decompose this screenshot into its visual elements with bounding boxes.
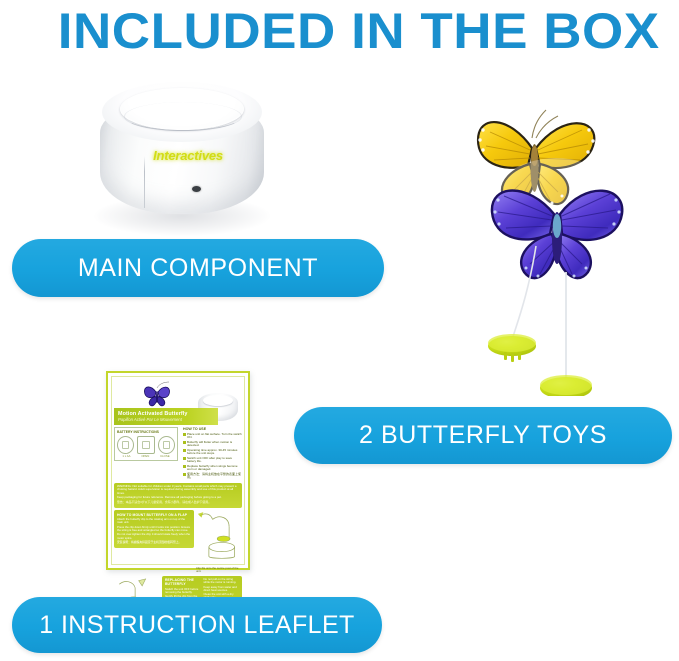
label-instruction-leaflet[interactable]: 1 INSTRUCTION LEAFLET xyxy=(12,597,382,653)
howto-item: Replace butterfly when wings become worn… xyxy=(183,465,242,472)
mount-line-cn: 安装说明：将蝴蝶夹扣固定于主机顶部的旋转臂上。 xyxy=(117,541,191,544)
device-lid-seam xyxy=(124,102,242,131)
butterfly-toys-image xyxy=(470,96,630,396)
instruction-leaflet-image: Motion Activated Butterfly Papillon Acti… xyxy=(106,371,250,570)
label-main-component[interactable]: MAIN COMPONENT xyxy=(12,239,384,297)
battery-diagrams xyxy=(117,435,175,454)
leaflet-title-bar: Motion Activated Butterfly Papillon Acti… xyxy=(114,408,218,425)
battery-captions: 1 x AA OPEN CLOSE xyxy=(117,454,175,458)
leaflet-howto-list: HOW TO USE Place unit on flat surface. T… xyxy=(181,427,242,481)
leaflet-mount-artwork: Clip fits onto the centre post of the un… xyxy=(196,510,242,573)
mount-line: Do not over-tighten the clip; it should … xyxy=(117,533,191,539)
howto-text: Operating time approx. 30-45 minutes bef… xyxy=(187,449,242,456)
howto-text: Replace butterfly when wings become worn… xyxy=(187,465,242,472)
howto-item: Place unit on flat surface. Turn the swi… xyxy=(183,433,242,440)
purple-butterfly xyxy=(484,158,628,278)
page-title: INCLUDED IN THE BOX xyxy=(28,0,679,62)
howto-item: Butterfly will flutter when motion is de… xyxy=(183,441,242,448)
howto-item: Operating time approx. 30-45 minutes bef… xyxy=(183,449,242,456)
battery-diagram-1 xyxy=(117,436,134,454)
warning-line-cn: 警告：本品不适合3岁以下儿童使用，含有小部件，请在成人监护下使用。 xyxy=(117,501,239,504)
battery-diagram-2 xyxy=(137,436,154,454)
label-butterfly-toys[interactable]: 2 BUTTERFLY TOYS xyxy=(294,407,672,464)
battery-diagram-3 xyxy=(158,436,175,454)
leaflet-row-mount: HOW TO MOUNT BUTTERFLY ON A FLAP Attach … xyxy=(112,510,244,573)
leaflet-battery-box: BATTERY INSTRUCTIONS 1 x AA OPEN CLOSE xyxy=(114,427,178,461)
battery-caption-2: OPEN xyxy=(141,454,149,458)
replace-note: Keep away from water and direct heat sou… xyxy=(204,586,240,592)
butterfly-toys-svg xyxy=(470,96,630,396)
leaflet-warning-block: WARNING: Not suitable for children under… xyxy=(114,483,242,509)
mount-heading: HOW TO MOUNT BUTTERFLY ON A FLAP xyxy=(117,513,191,517)
mount-side-note: Clip fits onto the centre post of the un… xyxy=(196,567,242,573)
howto-text: Butterfly will flutter when motion is de… xyxy=(187,441,242,448)
battery-caption-3: CLOSE xyxy=(160,454,169,458)
leaflet-mount-block: HOW TO MOUNT BUTTERFLY ON A FLAP Attach … xyxy=(114,510,194,548)
howto-heading: HOW TO USE xyxy=(183,427,242,431)
battery-heading: BATTERY INSTRUCTIONS xyxy=(117,430,175,434)
mount-line: Press the clip down firmly until it lock… xyxy=(117,526,191,532)
replace-note: Do not pull on the string while the moto… xyxy=(204,578,240,584)
butterfly-clip-2 xyxy=(540,375,592,396)
motion-sensor-icon xyxy=(192,186,201,192)
replace-line: Switch the unit OFF before removing the … xyxy=(165,588,201,594)
butterfly-clip-1 xyxy=(488,334,536,362)
replace-heading: REPLACING THE BUTTERFLY xyxy=(165,578,201,586)
howto-text: Place unit on flat surface. Turn the swi… xyxy=(187,433,242,440)
mount-line: Attach the butterfly clip to the rotatin… xyxy=(117,518,191,524)
howto-item: Switch unit OFF after play to save batte… xyxy=(183,457,242,464)
infographic-canvas: INCLUDED IN THE BOX Interactives MAIN CO… xyxy=(0,0,679,661)
howto-text: Switch unit OFF after play to save batte… xyxy=(187,457,242,464)
main-component-image: Interactives xyxy=(88,78,276,236)
leaflet-hero: Motion Activated Butterfly Papillon Acti… xyxy=(112,377,244,427)
leaflet-butterfly-icon xyxy=(142,381,172,407)
warning-line: WARNING: Not suitable for children under… xyxy=(117,485,239,495)
howto-item: 使用方法：请将主机放在平整的表面上使用。 xyxy=(183,473,242,480)
leaflet-row-battery: BATTERY INSTRUCTIONS 1 x AA OPEN CLOSE H… xyxy=(112,427,244,481)
howto-text: 使用方法：请将主机放在平整的表面上使用。 xyxy=(187,473,242,480)
battery-caption-1: 1 x AA xyxy=(122,454,130,458)
brand-logo: Interactives xyxy=(138,147,238,164)
mount-diagram xyxy=(196,510,242,562)
leaflet-subtitle: Papillon Activé Par Le Mouvement xyxy=(118,417,218,422)
